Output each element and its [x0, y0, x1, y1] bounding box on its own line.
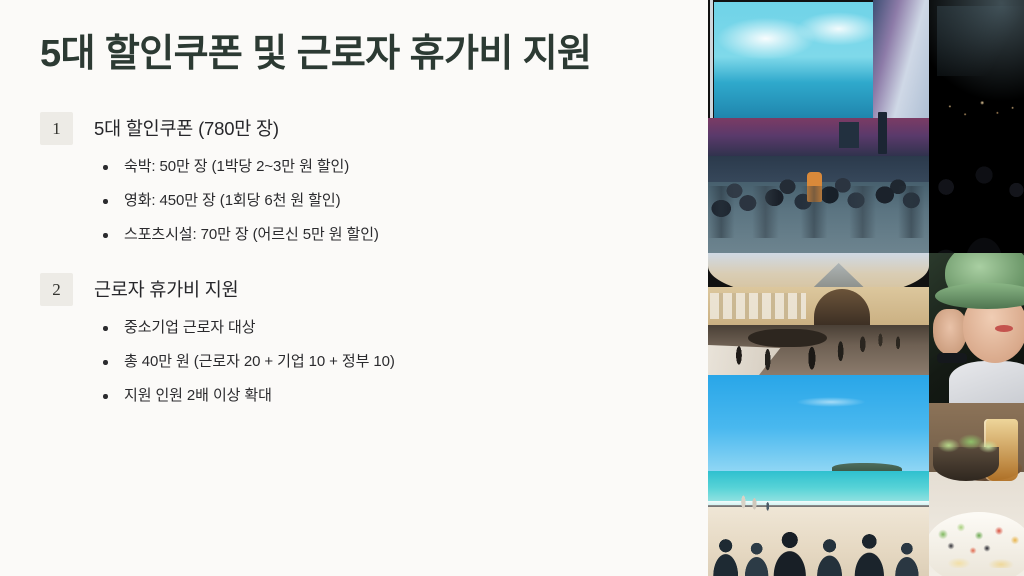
list-item-text: 지원 인원 2배 이상 확대 [124, 387, 272, 404]
bullet-dot-icon [103, 360, 108, 365]
beach-sky [708, 375, 929, 471]
image-outdoor-cinema-screening [708, 0, 929, 253]
page-title: 5대 할인쿠폰 및 근로자 휴가비 지원 [40, 28, 668, 80]
list-item: 중소기업 근로자 대상 [40, 318, 668, 338]
slide-root: 5대 할인쿠폰 및 근로자 휴가비 지원 1 5대 할인쿠폰 (780만 장) … [0, 0, 1024, 576]
bullet-dot-icon [103, 199, 108, 204]
stage-podium [878, 112, 887, 154]
section-1-number-badge: 1 [40, 112, 73, 145]
list-item: 숙박: 50만 장 (1박당 2~3만 원 할인) [40, 157, 668, 177]
image-dark-movie-theater [929, 0, 1024, 253]
stage-right-wall [873, 0, 929, 118]
woman-wristwatch [937, 353, 967, 363]
stage-speaker [839, 122, 859, 148]
gallery-column-left [708, 0, 929, 576]
section-2-number-badge: 2 [40, 273, 73, 306]
section-1-header: 1 5대 할인쿠폰 (780만 장) [40, 112, 668, 145]
list-item-text: 스포츠시설: 70만 장 (어르신 5만 원 할인) [124, 226, 379, 243]
screen-sky-image [714, 2, 887, 126]
section-2-heading: 근로자 휴가비 지원 [94, 277, 238, 303]
woman-shirt [949, 361, 1024, 403]
image-gallery [708, 0, 1024, 576]
list-item: 스포츠시설: 70만 장 (어르신 5만 원 할인) [40, 225, 668, 245]
bullet-dot-icon [103, 233, 108, 238]
section-1-bullets: 숙박: 50만 장 (1박당 2~3만 원 할인) 영화: 450만 장 (1회… [40, 157, 668, 245]
image-museum-exhibition-hall [708, 253, 929, 375]
list-item-text: 중소기업 근로자 대상 [124, 319, 255, 336]
list-item-text: 총 40만 원 (근로자 20 + 기업 10 + 정부 10) [124, 353, 395, 370]
bullet-dot-icon [103, 394, 108, 399]
audience-chairs [708, 186, 929, 238]
salad-bowl-greens [935, 431, 997, 455]
bullet-dot-icon [103, 165, 108, 170]
list-item: 지원 인원 2배 이상 확대 [40, 386, 668, 406]
list-item: 총 40만 원 (근로자 20 + 기업 10 + 정부 10) [40, 352, 668, 372]
list-item-text: 영화: 450만 장 (1회당 6천 원 할인) [124, 192, 340, 209]
plated-salad [929, 510, 1024, 568]
projector-beam-secondary [937, 6, 1024, 76]
beach-foreground-people [708, 504, 929, 576]
section-1: 1 5대 할인쿠폰 (780만 장) 숙박: 50만 장 (1박당 2~3만 원… [40, 112, 668, 245]
image-salad-and-beer-food [929, 403, 1024, 576]
theater-audience-heads [929, 103, 1024, 253]
gallery-column-right [929, 0, 1024, 576]
slide-content: 5대 할인쿠폰 및 근로자 휴가비 지원 1 5대 할인쿠폰 (780만 장) … [0, 0, 708, 576]
bullet-dot-icon [103, 326, 108, 331]
hall-visitors [708, 305, 929, 375]
section-2-header: 2 근로자 휴가비 지원 [40, 273, 668, 306]
woman-lips [995, 325, 1013, 332]
sections-list: 1 5대 할인쿠폰 (780만 장) 숙박: 50만 장 (1박당 2~3만 원… [40, 112, 668, 406]
list-item-text: 숙박: 50만 장 (1박당 2~3만 원 할인) [124, 158, 349, 175]
image-woman-green-bucket-hat [929, 253, 1024, 403]
list-item: 영화: 450만 장 (1회당 6천 원 할인) [40, 191, 668, 211]
beach-cloud [796, 397, 866, 407]
section-1-heading: 5대 할인쿠폰 (780만 장) [94, 116, 279, 142]
section-2: 2 근로자 휴가비 지원 중소기업 근로자 대상 총 40만 원 (근로자 20… [40, 273, 668, 406]
section-2-bullets: 중소기업 근로자 대상 총 40만 원 (근로자 20 + 기업 10 + 정부… [40, 318, 668, 406]
woman-hand [933, 309, 967, 355]
image-beach-seaside [708, 375, 929, 576]
